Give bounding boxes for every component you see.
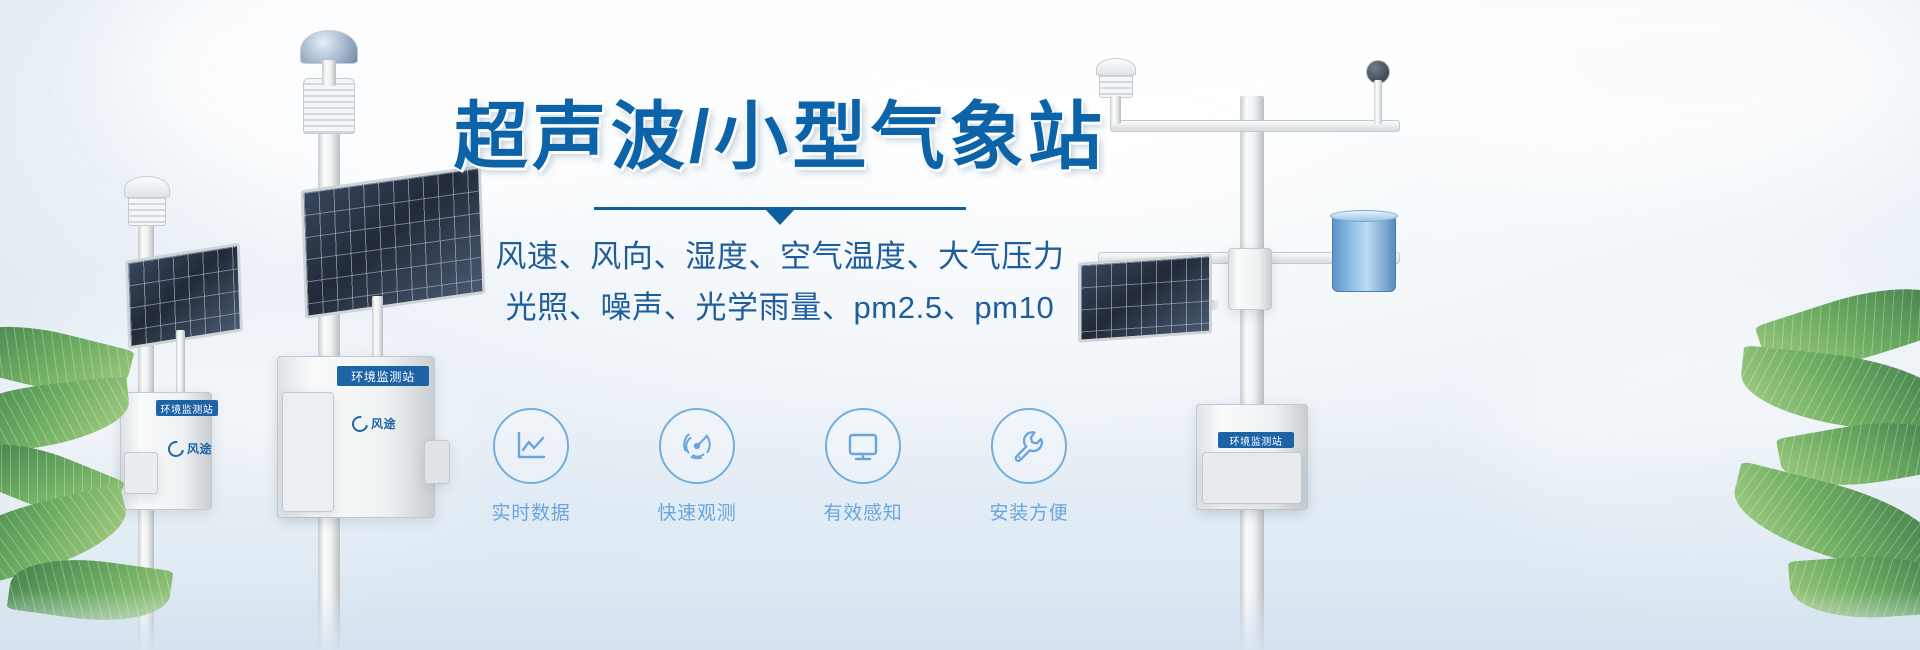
feature-label: 实时数据 <box>472 498 590 525</box>
feature-item-effective-sensing[interactable]: 有效感知 <box>804 408 922 525</box>
feature-label: 安装方便 <box>970 498 1088 525</box>
junction-box <box>1228 248 1272 310</box>
cabinet-label: 环境监测站 <box>1218 432 1294 448</box>
hero-banner: 环境监测站 风途 环境监测站 风途 <box>0 0 1920 650</box>
cross-arm <box>1110 120 1400 132</box>
feature-icon-ring <box>825 408 901 484</box>
divider-triangle-icon <box>766 210 794 225</box>
cabinet-door-panel <box>282 392 334 512</box>
wrench-icon <box>1009 426 1049 466</box>
feature-icon-ring <box>493 408 569 484</box>
brand-logo: 风途 <box>352 415 396 432</box>
brand-mark-icon <box>165 437 187 459</box>
sensor-dome-cap <box>124 176 170 198</box>
feature-label: 有效感知 <box>804 498 922 525</box>
feature-icon-ring <box>991 408 1067 484</box>
page-title: 超声波/小型气象站 <box>430 96 1130 177</box>
rain-gauge <box>1332 216 1396 292</box>
monitor-screen-icon <box>843 426 883 466</box>
cabinet-door-panel <box>124 452 158 494</box>
brand-logo: 风途 <box>168 440 212 457</box>
cabinet-label: 环境监测站 <box>337 366 429 386</box>
sensor-dome-cap <box>1096 58 1136 76</box>
sensor-stem <box>322 60 336 86</box>
feature-list: 实时数据 快速观测 <box>430 408 1130 525</box>
radiation-shield <box>303 78 355 134</box>
subtitle-block: 风速、风向、湿度、空气温度、大气压力 光照、噪声、光学雨量、pm2.5、pm10 <box>430 232 1130 332</box>
subtitle-line-1: 风速、风向、湿度、空气温度、大气压力 <box>495 239 1064 274</box>
ultrasonic-sensor-dome <box>300 30 358 64</box>
cloud-shape <box>1380 0 1920 200</box>
hero-text-block: 超声波/小型气象站 风速、风向、湿度、空气温度、大气压力 光照、噪声、光学雨量、… <box>430 96 1130 333</box>
mast-pole <box>1240 96 1264 650</box>
brand-name: 风途 <box>187 440 212 457</box>
cabinet-label: 环境监测站 <box>156 400 218 416</box>
cabinet-door-panel <box>1202 452 1302 504</box>
ground-fade <box>0 590 1920 650</box>
sensor-stem <box>1374 80 1382 124</box>
feature-icon-ring <box>659 408 735 484</box>
radar-scan-icon <box>677 426 717 466</box>
subtitle-line-2: 光照、噪声、光学雨量、pm2.5、pm10 <box>430 283 1130 333</box>
feature-label: 快速观测 <box>638 498 756 525</box>
feature-item-realtime-data[interactable]: 实时数据 <box>472 408 590 525</box>
panel-support-arm <box>176 330 185 400</box>
brand-mark-icon <box>349 412 371 434</box>
line-chart-icon <box>511 426 551 466</box>
brand-name: 风途 <box>371 415 396 432</box>
feature-item-easy-installation[interactable]: 安装方便 <box>970 408 1088 525</box>
title-divider <box>594 207 966 210</box>
rain-gauge-lid <box>1330 210 1398 222</box>
feature-item-fast-observation[interactable]: 快速观测 <box>638 408 756 525</box>
